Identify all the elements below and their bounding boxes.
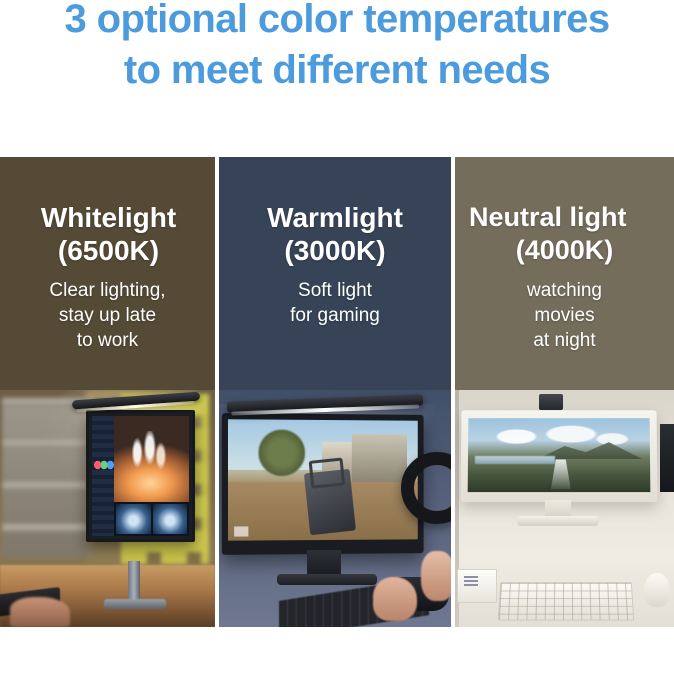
heading-section: 3 optional color temperatures to meet di…: [0, 0, 674, 157]
white-keyboard: [498, 582, 635, 620]
panel-warmlight[interactable]: Warmlight (3000K) Soft light for gaming: [219, 157, 451, 627]
thumbnail: [153, 504, 188, 534]
page-title-line-1: 3 optional color temperatures: [0, 0, 674, 45]
left-hand: [373, 577, 417, 621]
landscape-wallpaper: [468, 418, 651, 492]
monitor-light-bar: [539, 394, 563, 410]
panel-whitelight-desc-line-2: stay up late: [0, 303, 215, 328]
hand-blur: [10, 597, 70, 627]
panel-whitelight[interactable]: Whitelight (6500K) Clear lighting, stay …: [0, 157, 215, 627]
monitor-base: [517, 516, 599, 526]
right-hand: [421, 551, 451, 601]
panel-neutral-light-photo: [455, 390, 674, 627]
page-title: 3 optional color temperatures to meet di…: [0, 0, 674, 96]
game-hud: [234, 526, 248, 536]
panel-whitelight-kelvin: (6500K): [0, 234, 215, 267]
panel-whitelight-desc-line-1: Clear lighting,: [0, 278, 215, 303]
panel-warmlight-title: Warmlight: [219, 201, 451, 234]
editor-photo: [114, 416, 189, 502]
waterfall: [530, 459, 592, 489]
panel-warmlight-photo: [219, 390, 451, 627]
color-swatches-icon: [94, 458, 114, 472]
game-screen: [228, 419, 418, 540]
game-building: [351, 435, 406, 483]
gaming-monitor: [222, 413, 424, 555]
monitor-base: [104, 599, 166, 609]
game-tree: [259, 429, 305, 475]
game-weapon: [304, 469, 356, 536]
panel-neutral-light-kelvin: (4000K): [455, 234, 674, 267]
panel-neutral-light-text: Neutral light (4000K) watching movies at…: [455, 157, 674, 353]
panel-whitelight-text: Whitelight (6500K) Clear lighting, stay …: [0, 157, 215, 353]
product-infographic: 3 optional color temperatures to meet di…: [0, 0, 674, 674]
panel-warmlight-text: Warmlight (3000K) Soft light for gaming: [219, 157, 451, 328]
editor-canvas: [114, 416, 189, 536]
panel-neutral-light-desc-line-1: watching: [455, 278, 674, 303]
panel-warmlight-description: Soft light for gaming: [219, 278, 451, 328]
monitor: [86, 410, 195, 542]
monitor-stand: [128, 561, 140, 603]
monitor-stand: [307, 550, 341, 576]
second-monitor-edge: [660, 424, 674, 492]
panel-whitelight-desc-line-3: to work: [0, 328, 215, 353]
panel-whitelight-photo: [0, 390, 215, 627]
panel-neutral-light-description: watching movies at night: [455, 278, 674, 353]
panel-warmlight-desc-line-2: for gaming: [219, 303, 451, 328]
panel-neutral-light-desc-line-3: at night: [455, 328, 674, 353]
panel-whitelight-description: Clear lighting, stay up late to work: [0, 278, 215, 353]
white-monitor: [461, 410, 658, 502]
page-title-line-2: to meet different needs: [0, 45, 674, 96]
editor-thumbnails: [114, 502, 189, 536]
panel-neutral-light-title: Neutral light: [469, 201, 674, 234]
lake: [475, 456, 555, 463]
panel-neutral-light[interactable]: Neutral light (4000K) watching movies at…: [455, 157, 674, 627]
thumbnail: [116, 504, 151, 534]
panel-warmlight-desc-line-1: Soft light: [219, 278, 451, 303]
editor-sidebar: [92, 416, 114, 536]
monitor-base: [277, 574, 377, 585]
panel-neutral-light-desc-line-2: movies: [455, 303, 674, 328]
white-mouse: [644, 573, 670, 607]
monitor-screen: [92, 416, 189, 536]
notepad: [457, 569, 497, 603]
panel-whitelight-title: Whitelight: [0, 201, 215, 234]
color-temperature-panels: Whitelight (6500K) Clear lighting, stay …: [0, 157, 674, 627]
panel-warmlight-kelvin: (3000K): [219, 234, 451, 267]
